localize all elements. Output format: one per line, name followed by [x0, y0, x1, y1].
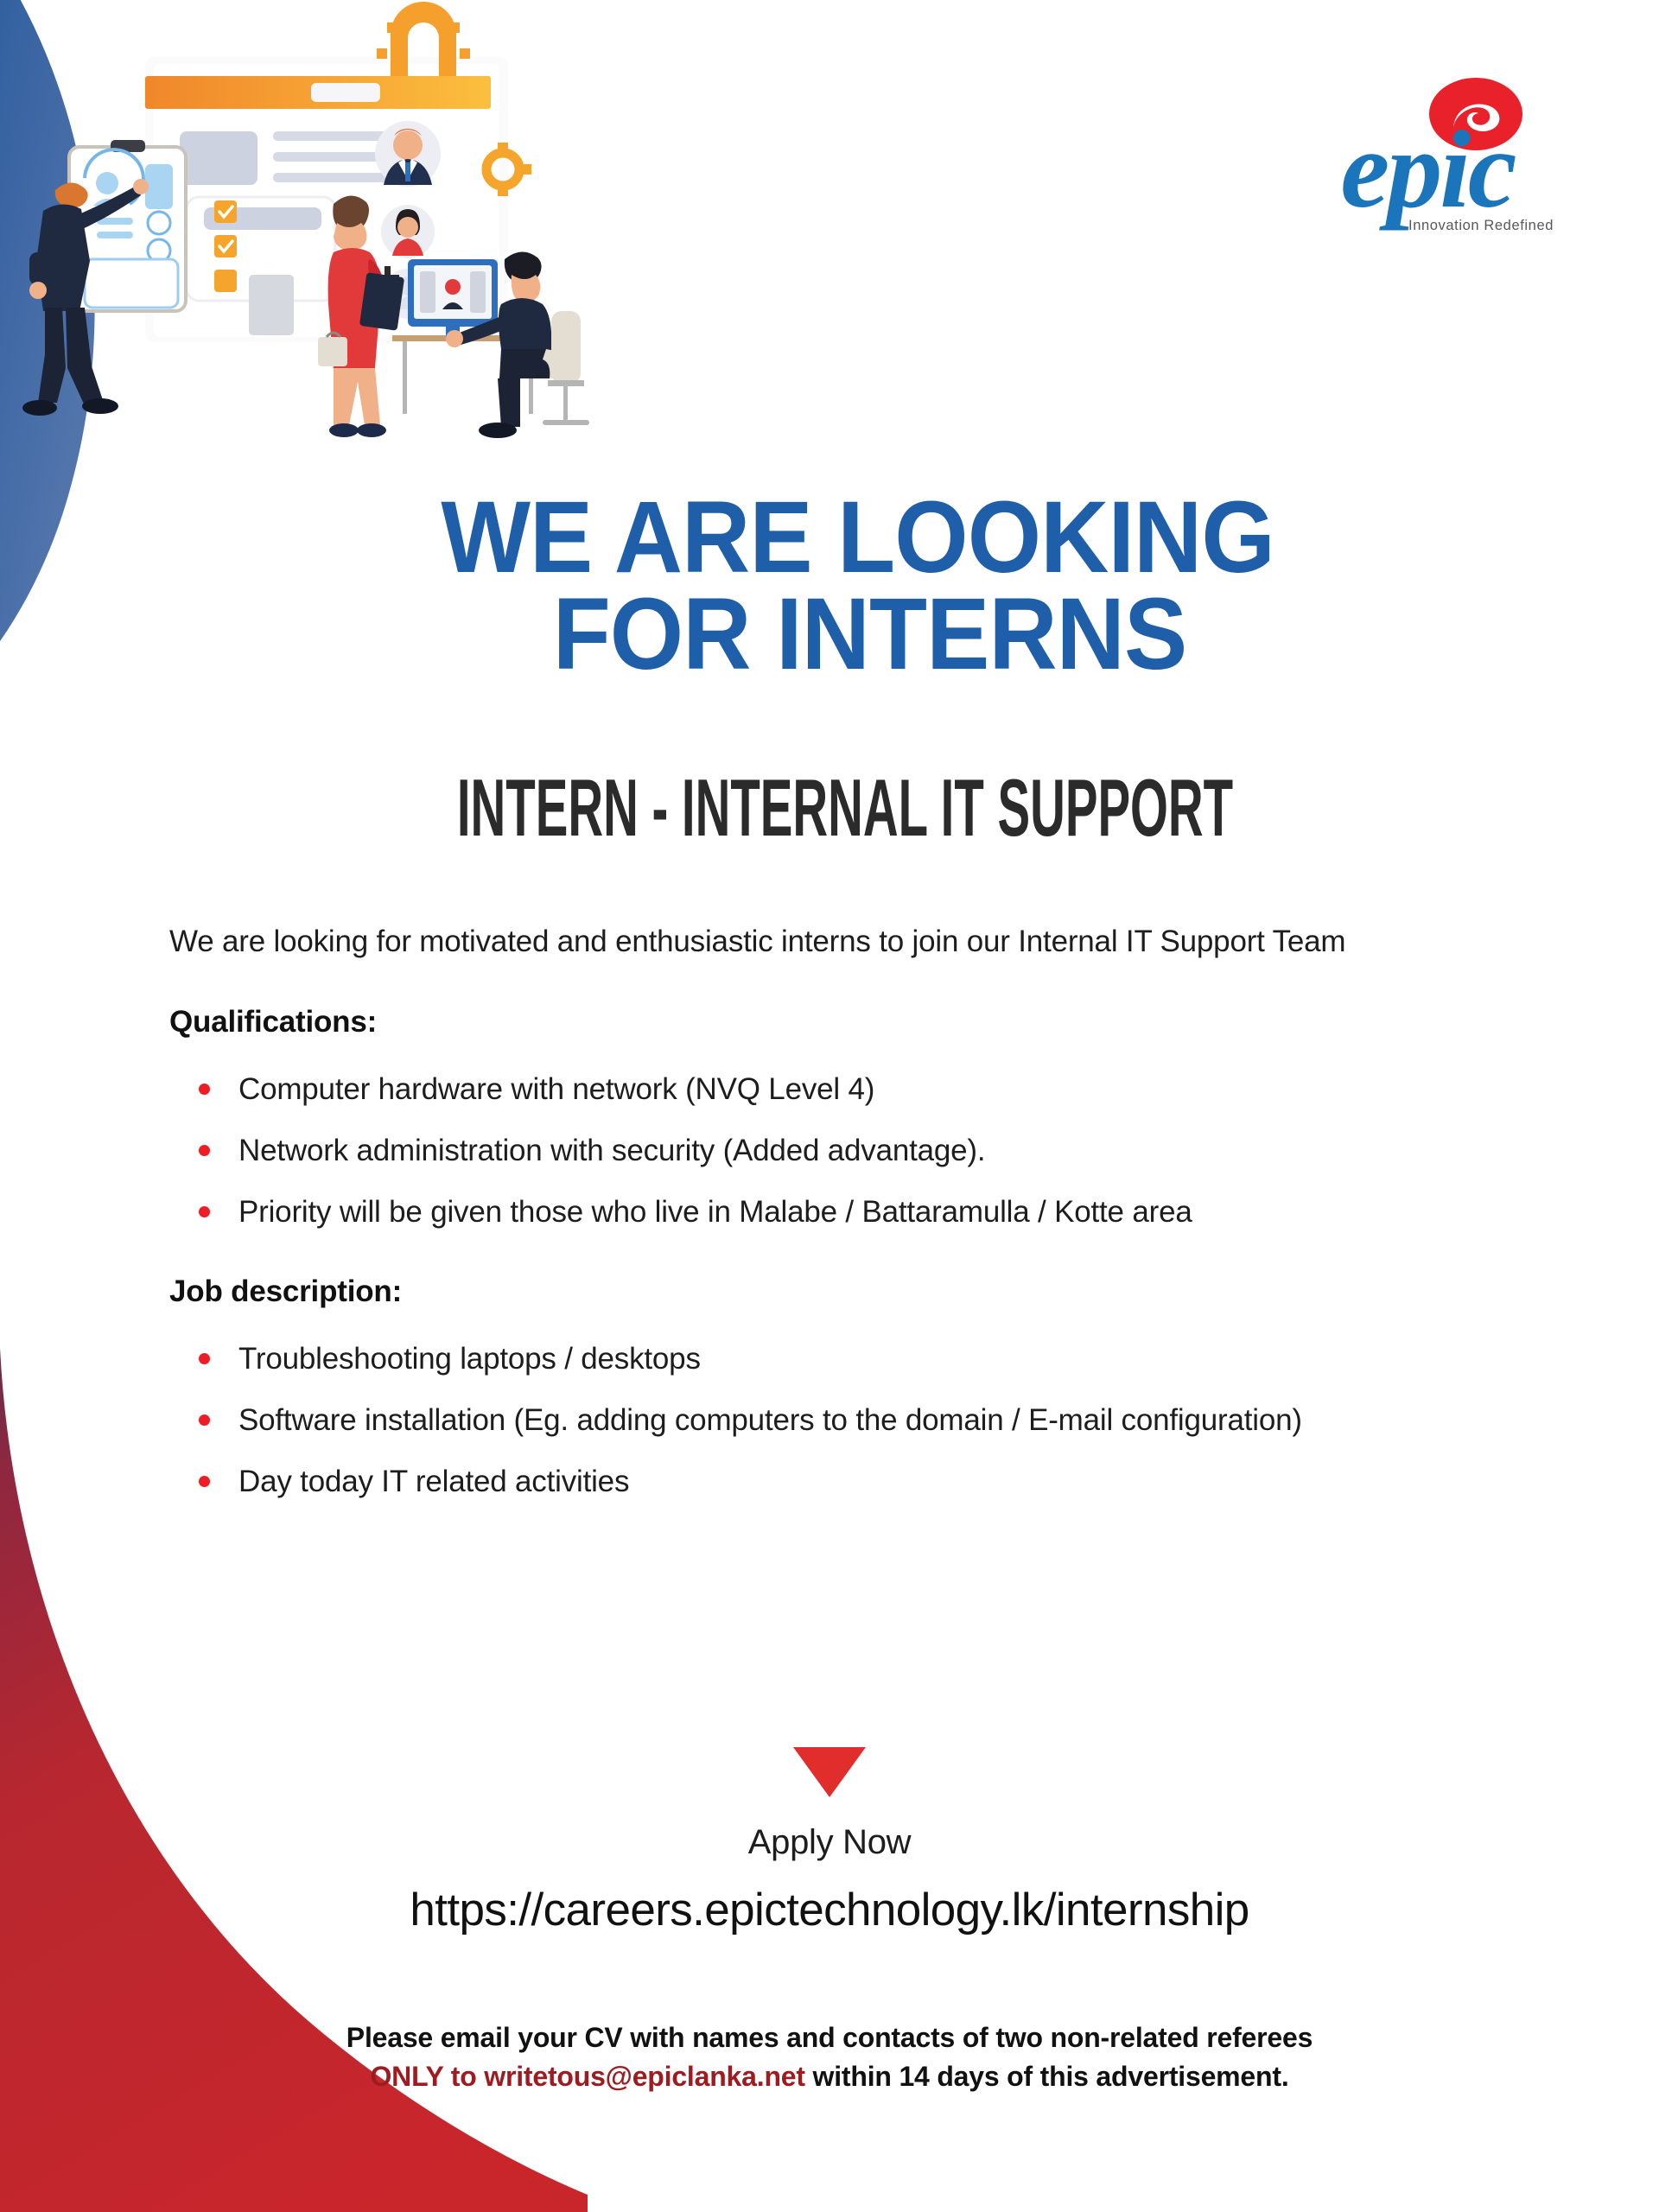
headline-line-2: FOR INTERNS: [58, 586, 1601, 683]
list-item: Software installation (Eg. adding comput…: [169, 1396, 1517, 1444]
qualifications-heading: Qualifications:: [169, 1005, 1517, 1039]
footer-email-address[interactable]: writetous@epiclanka.net: [484, 2061, 805, 2092]
headline-line-1: WE ARE LOOKING: [58, 489, 1601, 586]
apply-url-link[interactable]: https://careers.epictechnology.lk/intern…: [0, 1884, 1659, 1936]
job-description-heading: Job description:: [169, 1274, 1517, 1309]
intro-paragraph: We are looking for motivated and enthusi…: [169, 918, 1517, 967]
page-title: WE ARE LOOKING FOR INTERNS: [58, 489, 1601, 683]
list-item: Computer hardware with network (NVQ Leve…: [169, 1065, 1517, 1113]
down-triangle-icon-wrap: [0, 1747, 1659, 1802]
job-description-list: Troubleshooting laptops / desktops Softw…: [169, 1335, 1517, 1506]
qualifications-list: Computer hardware with network (NVQ Leve…: [169, 1065, 1517, 1236]
apply-now-label: Apply Now: [0, 1823, 1659, 1862]
footer-email-prefix: ONLY to: [370, 2061, 484, 2092]
hr-recruitment-illustration: [17, 0, 605, 484]
list-item: Network administration with security (Ad…: [169, 1127, 1517, 1174]
footer-line-1: Please email your CV with names and cont…: [0, 2018, 1659, 2057]
epic-tagline: Innovation Redefined: [1408, 218, 1554, 234]
job-details: We are looking for motivated and enthusi…: [169, 918, 1517, 1543]
job-advertisement-poster: epic Innovation Redefined WE ARE LOOKING…: [0, 0, 1659, 2145]
epic-logo: epic Innovation Redefined: [1298, 76, 1557, 232]
list-item: Day today IT related activities: [169, 1458, 1517, 1505]
footer-line-2: ONLY to writetous@epiclanka.net within 1…: [0, 2057, 1659, 2096]
footer-email-suffix: within 14 days of this advertisement.: [805, 2061, 1289, 2092]
epic-wordmark: epic: [1298, 114, 1557, 225]
down-triangle-icon: [793, 1747, 866, 1797]
job-position-subtitle: INTERN - INTERNAL IT SUPPORT: [332, 767, 1327, 849]
footer-note: Please email your CV with names and cont…: [0, 2018, 1659, 2097]
list-item: Troubleshooting laptops / desktops: [169, 1335, 1517, 1382]
list-item: Priority will be given those who live in…: [169, 1188, 1517, 1236]
